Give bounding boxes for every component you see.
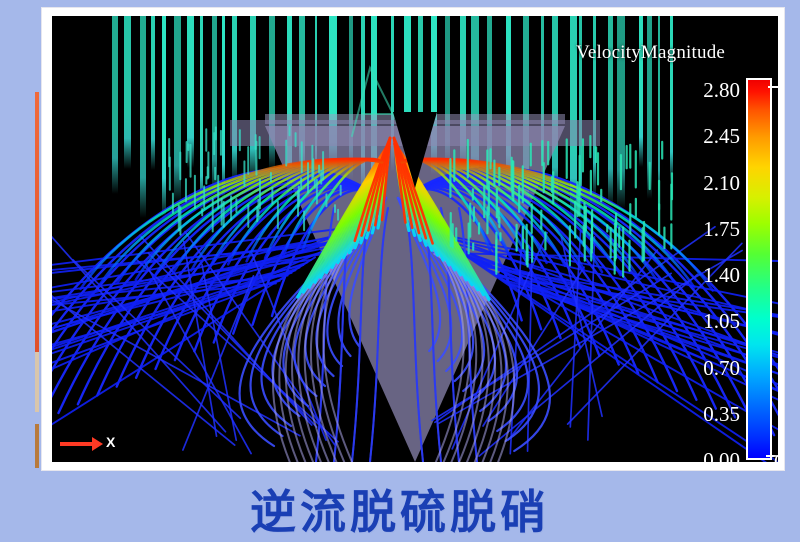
colorbar-tick-6: 0.70	[703, 356, 740, 381]
x-axis-arrowhead-icon	[92, 437, 103, 451]
x-axis-arrow-icon	[60, 442, 94, 446]
colorbar-max-dash	[768, 86, 778, 88]
streamline-funnel-film	[405, 208, 423, 462]
colorbar-min-label: 0.00	[774, 450, 778, 462]
axis-triad: X	[60, 430, 120, 460]
nozzle-geometry	[393, 112, 437, 188]
colorbar-tick-3: 1.75	[703, 217, 740, 242]
slide-caption: 逆流脱硫脱硝	[0, 476, 800, 542]
streamline-funnel-film	[370, 208, 388, 462]
colorbar-tick-8: 0.00	[703, 448, 740, 462]
left-accent-strip-brown	[35, 424, 39, 468]
x-axis-label: X	[106, 434, 115, 450]
colorbar-title: VelocityMagnitude	[576, 42, 725, 64]
streamline-ray-cross	[148, 253, 316, 427]
colorbar-tick-0: 2.80	[703, 78, 740, 103]
colorbar-tick-2: 2.10	[703, 171, 740, 196]
left-accent-strip-red	[35, 92, 39, 352]
colorbar-tick-5: 1.05	[703, 309, 740, 334]
colorbar-gradient	[746, 78, 772, 460]
colorbar-tick-labels: 2.802.452.101.751.401.050.700.350.00	[652, 66, 740, 462]
colorbar-tick-4: 1.40	[703, 263, 740, 288]
colorbar-tick-1: 2.45	[703, 124, 740, 149]
left-accent-strip-tan	[35, 352, 39, 412]
colorbar-tick-7: 0.35	[703, 402, 740, 427]
slide-root: VelocityMagnitude 2.802.452.101.751.401.…	[0, 0, 800, 542]
cfd-visualization: VelocityMagnitude 2.802.452.101.751.401.…	[52, 16, 778, 462]
